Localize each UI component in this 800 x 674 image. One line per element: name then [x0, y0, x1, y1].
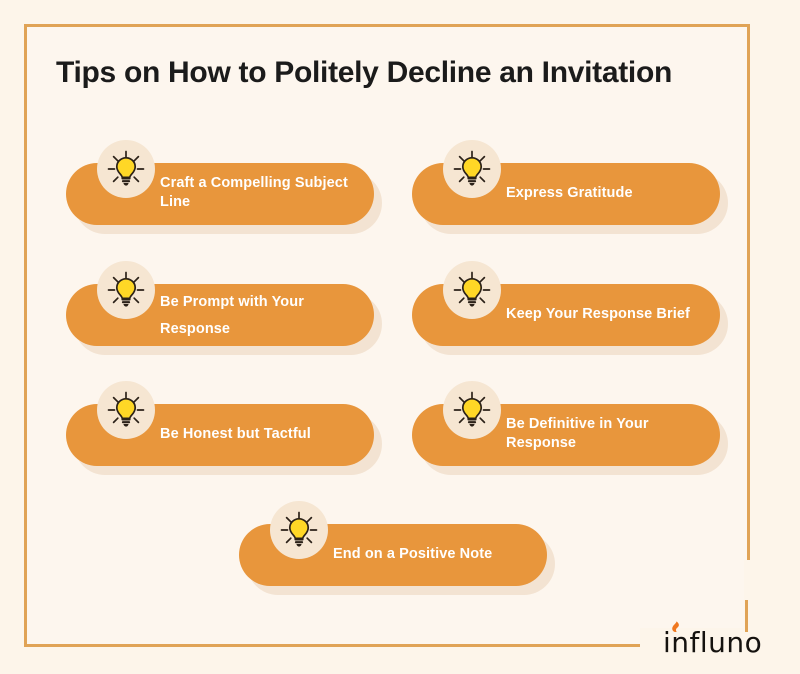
tip-label: Craft a Compelling Subject Line [160, 174, 360, 212]
tips-list: Craft a Compelling Subject Line [0, 0, 800, 674]
tip-label: Be Definitive in Your Response [506, 415, 706, 453]
tip-card-7[interactable]: End on a Positive Note [239, 524, 547, 586]
lightbulb-icon [97, 140, 155, 198]
tip-label: Keep Your Response Brief [506, 305, 706, 324]
lightbulb-icon [97, 381, 155, 439]
tip-card-2[interactable]: Express Gratitude [412, 163, 720, 225]
lightbulb-icon [443, 381, 501, 439]
lightbulb-icon [270, 501, 328, 559]
lightbulb-icon [443, 140, 501, 198]
tip-card-6[interactable]: Be Definitive in Your Response [412, 404, 720, 466]
tip-card-3[interactable]: Be Prompt with Your Response [66, 284, 374, 346]
tip-label: Express Gratitude [506, 184, 706, 203]
tip-label: Be Honest but Tactful [160, 425, 360, 444]
lightbulb-icon [443, 261, 501, 319]
tip-label: Be Prompt with Your Response [160, 289, 360, 343]
lightbulb-icon [97, 261, 155, 319]
tip-card-1[interactable]: Craft a Compelling Subject Line [66, 163, 374, 225]
tip-label: End on a Positive Note [333, 545, 533, 564]
tip-card-5[interactable]: Be Honest but Tactful [66, 404, 374, 466]
brand-logo: influno [663, 622, 783, 662]
tip-card-4[interactable]: Keep Your Response Brief [412, 284, 720, 346]
logo-text: influno [663, 626, 762, 659]
